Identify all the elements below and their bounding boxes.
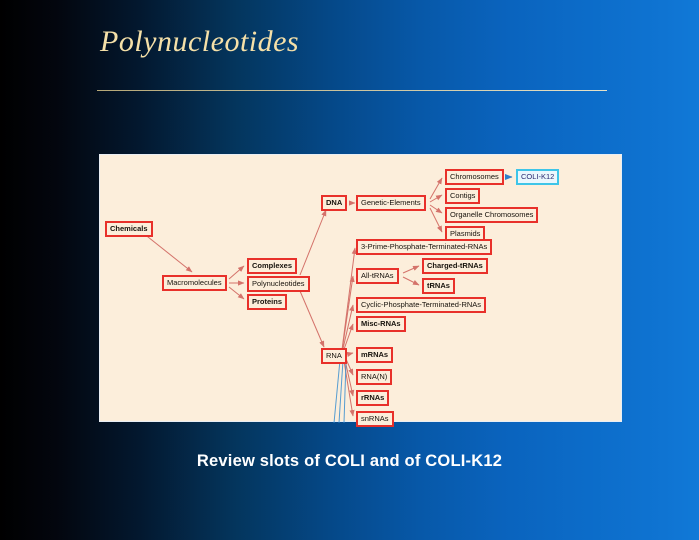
node-proteins[interactable]: Proteins (247, 294, 287, 310)
title-divider (97, 90, 607, 91)
node-snrnas[interactable]: snRNAs (356, 411, 394, 427)
node-complexes[interactable]: Complexes (247, 258, 297, 274)
diagram-panel: Chemicals Macromolecules Complexes Polyn… (99, 154, 622, 422)
node-polynucleotides[interactable]: Polynucleotides (247, 276, 310, 292)
node-dna[interactable]: DNA (321, 195, 347, 211)
slide-canvas: Polynucleotides (0, 0, 699, 540)
node-organelle-chromosomes[interactable]: Organelle Chromosomes (445, 207, 538, 223)
node-coli-k12[interactable]: COLI-K12 (516, 169, 559, 185)
node-rrnas[interactable]: rRNAs (356, 390, 389, 406)
node-genetic-elements[interactable]: Genetic-Elements (356, 195, 426, 211)
node-cyclic-phosphate-terminated-rnas[interactable]: Cyclic-Phosphate-Terminated-RNAs (356, 297, 486, 313)
node-rna[interactable]: RNA (321, 348, 347, 364)
node-misc-rnas[interactable]: Misc-RNAs (356, 316, 406, 332)
node-chromosomes[interactable]: Chromosomes (445, 169, 504, 185)
node-charged-trnas[interactable]: Charged-tRNAs (422, 258, 488, 274)
node-rna-n[interactable]: RNA(N) (356, 369, 392, 385)
node-chemicals[interactable]: Chemicals (105, 221, 153, 237)
node-mrnas[interactable]: mRNAs (356, 347, 393, 363)
page-title: Polynucleotides (100, 25, 299, 59)
node-trnas[interactable]: tRNAs (422, 278, 455, 294)
node-all-trnas[interactable]: All-tRNAs (356, 268, 399, 284)
node-contigs[interactable]: Contigs (445, 188, 480, 204)
node-3-prime-phosphate-terminated-rnas[interactable]: 3-Prime-Phosphate-Terminated-RNAs (356, 239, 492, 255)
node-macromolecules[interactable]: Macromolecules (162, 275, 227, 291)
slide-caption: Review slots of COLI and of COLI-K12 (0, 452, 699, 471)
